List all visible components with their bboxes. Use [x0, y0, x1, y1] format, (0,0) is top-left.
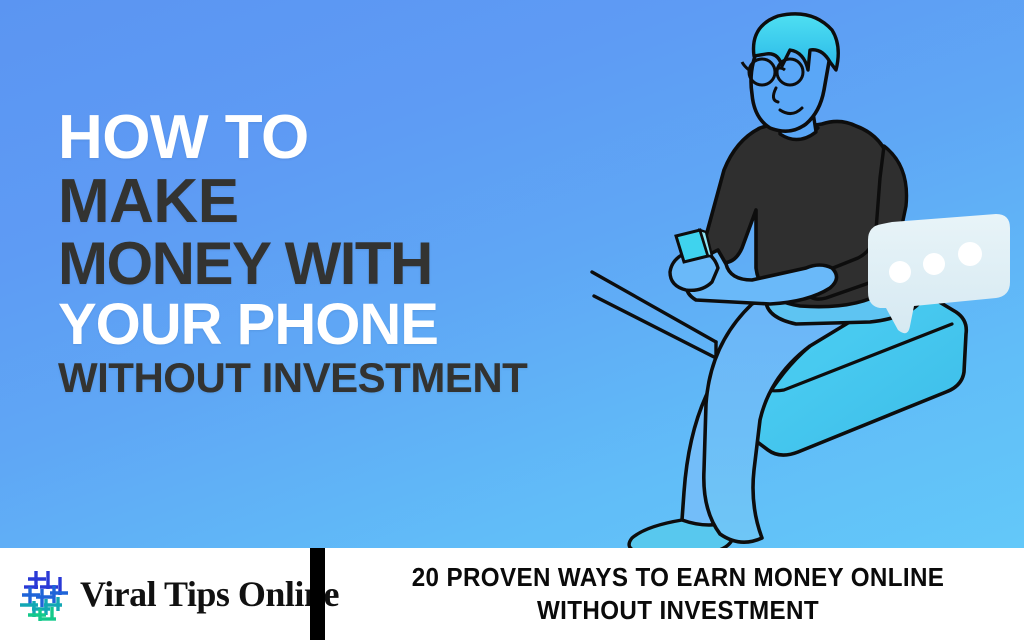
- headline-line-4: YOUR PHONE: [58, 297, 618, 353]
- person-using-phone-illustration: [584, 0, 1024, 548]
- bubble-dot-2: [923, 253, 945, 275]
- headline-line-1: HOW TO: [58, 108, 618, 168]
- caption-block: 20 Proven Ways to Earn Money Online With…: [325, 548, 1024, 640]
- footer-divider: [310, 548, 325, 640]
- headline-line-2: MAKE: [58, 172, 618, 232]
- brand-name-label: Viral Tips Online: [80, 573, 339, 615]
- poster-canvas: HOW TO MAKE MONEY WITH YOUR PHONE WITHOU…: [0, 0, 1024, 640]
- footer-bar: Viral Tips Online 20 Proven Ways to Earn…: [0, 548, 1024, 640]
- viral-tips-online-logo-icon: [14, 563, 76, 625]
- brand-block[interactable]: Viral Tips Online: [0, 548, 310, 640]
- smartphone: [676, 230, 712, 262]
- footer-caption-text: 20 Proven Ways to Earn Money Online With…: [371, 561, 985, 628]
- headline-block: HOW TO MAKE MONEY WITH YOUR PHONE WITHOU…: [58, 108, 618, 399]
- headline-line-5: WITHOUT INVESTMENT: [58, 358, 618, 398]
- bubble-dot-3: [958, 242, 982, 266]
- headline-line-3: MONEY WITH: [58, 235, 618, 293]
- bubble-dot-1: [889, 261, 911, 283]
- hero-background: HOW TO MAKE MONEY WITH YOUR PHONE WITHOU…: [0, 0, 1024, 548]
